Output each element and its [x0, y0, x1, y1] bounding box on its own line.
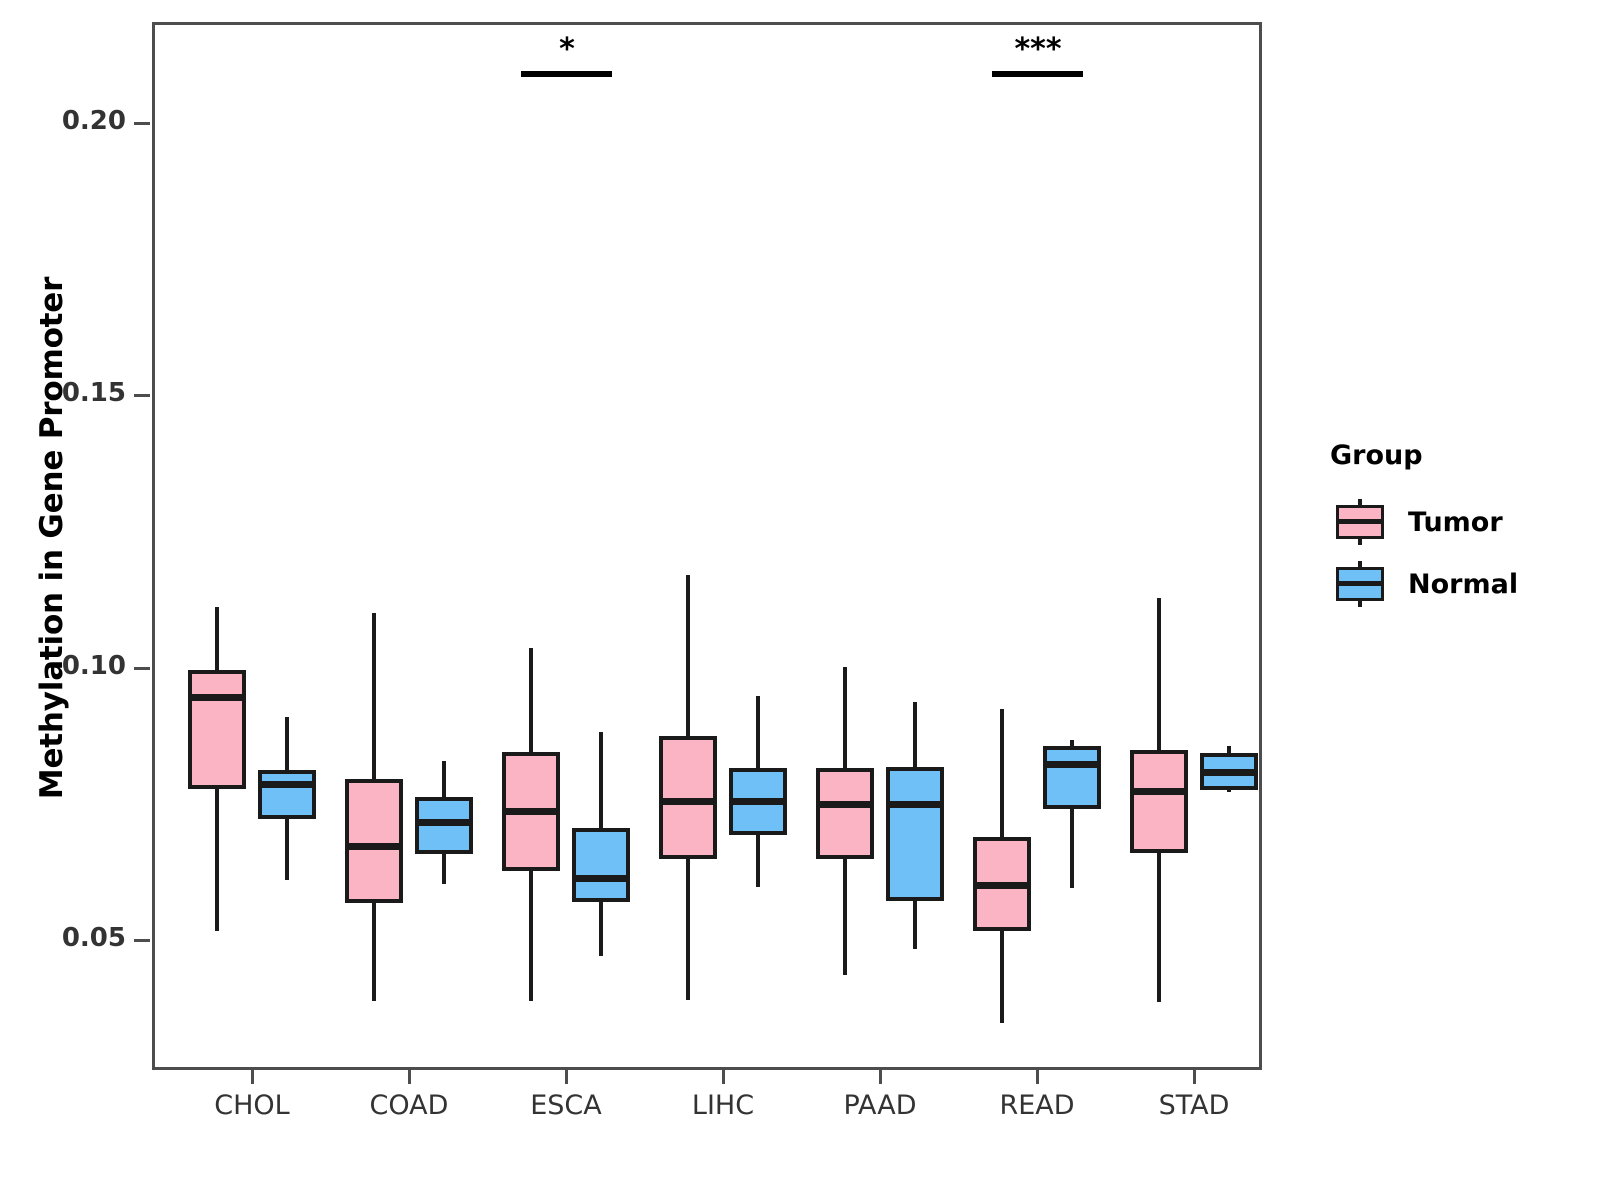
- y-tick-label: 0.10: [14, 651, 126, 681]
- y-tick-mark: [134, 122, 150, 125]
- y-axis-title: Methylation in Gene Promoter: [34, 218, 70, 858]
- legend-label: Tumor: [1408, 507, 1503, 538]
- box-iqr: [886, 767, 944, 900]
- y-tick-label: 0.05: [14, 923, 126, 953]
- y-tick-mark: [134, 939, 150, 942]
- box-iqr: [258, 770, 316, 820]
- median-line: [345, 843, 403, 850]
- x-tick-label-stad: STAD: [1114, 1090, 1274, 1121]
- median-line: [729, 798, 787, 805]
- median-line: [572, 875, 630, 882]
- significance-label-esca: *: [507, 35, 627, 65]
- x-tick-mark: [1193, 1070, 1196, 1084]
- box-iqr: [572, 828, 630, 902]
- box-iqr: [1043, 746, 1101, 809]
- median-line: [1200, 769, 1258, 776]
- x-tick-mark: [408, 1070, 411, 1084]
- y-tick-mark: [134, 394, 150, 397]
- legend-item-tumor[interactable]: Tumor: [1330, 493, 1590, 551]
- median-line: [1043, 761, 1101, 768]
- y-tick-label: 0.15: [14, 378, 126, 408]
- legend-title: Group: [1330, 440, 1590, 471]
- x-tick-mark: [722, 1070, 725, 1084]
- x-tick-label-lihc: LIHC: [643, 1090, 803, 1121]
- legend-key-icon: [1330, 499, 1390, 545]
- plot-panel: [152, 22, 1262, 1070]
- x-tick-label-coad: COAD: [329, 1090, 489, 1121]
- legend-median: [1336, 581, 1384, 586]
- median-line: [973, 882, 1031, 889]
- chart-root: Methylation in Gene Promoter 0.050.100.1…: [0, 0, 1600, 1200]
- median-line: [502, 808, 560, 815]
- x-tick-mark: [565, 1070, 568, 1084]
- y-tick-label: 0.20: [14, 106, 126, 136]
- box-iqr: [188, 670, 246, 789]
- x-tick-label-chol: CHOL: [172, 1090, 332, 1121]
- legend-median: [1336, 519, 1384, 524]
- significance-label-read: ***: [978, 35, 1098, 65]
- x-tick-label-paad: PAAD: [800, 1090, 960, 1121]
- median-line: [1130, 788, 1188, 795]
- y-tick-mark: [134, 667, 150, 670]
- median-line: [258, 781, 316, 788]
- legend-key-icon: [1330, 561, 1390, 607]
- legend: Group TumorNormal: [1330, 440, 1590, 617]
- median-line: [886, 801, 944, 808]
- x-tick-mark: [251, 1070, 254, 1084]
- box-iqr: [415, 797, 473, 854]
- significance-bar-esca: [521, 71, 612, 77]
- box-iqr: [1130, 750, 1188, 853]
- x-tick-mark: [879, 1070, 882, 1084]
- box-iqr: [816, 768, 874, 859]
- legend-item-normal[interactable]: Normal: [1330, 555, 1590, 613]
- x-tick-label-esca: ESCA: [486, 1090, 646, 1121]
- median-line: [659, 798, 717, 805]
- median-line: [188, 694, 246, 701]
- median-line: [415, 819, 473, 826]
- x-tick-mark: [1036, 1070, 1039, 1084]
- median-line: [816, 801, 874, 808]
- x-tick-label-read: READ: [957, 1090, 1117, 1121]
- significance-bar-read: [992, 71, 1083, 77]
- legend-label: Normal: [1408, 569, 1518, 600]
- box-iqr: [345, 779, 403, 903]
